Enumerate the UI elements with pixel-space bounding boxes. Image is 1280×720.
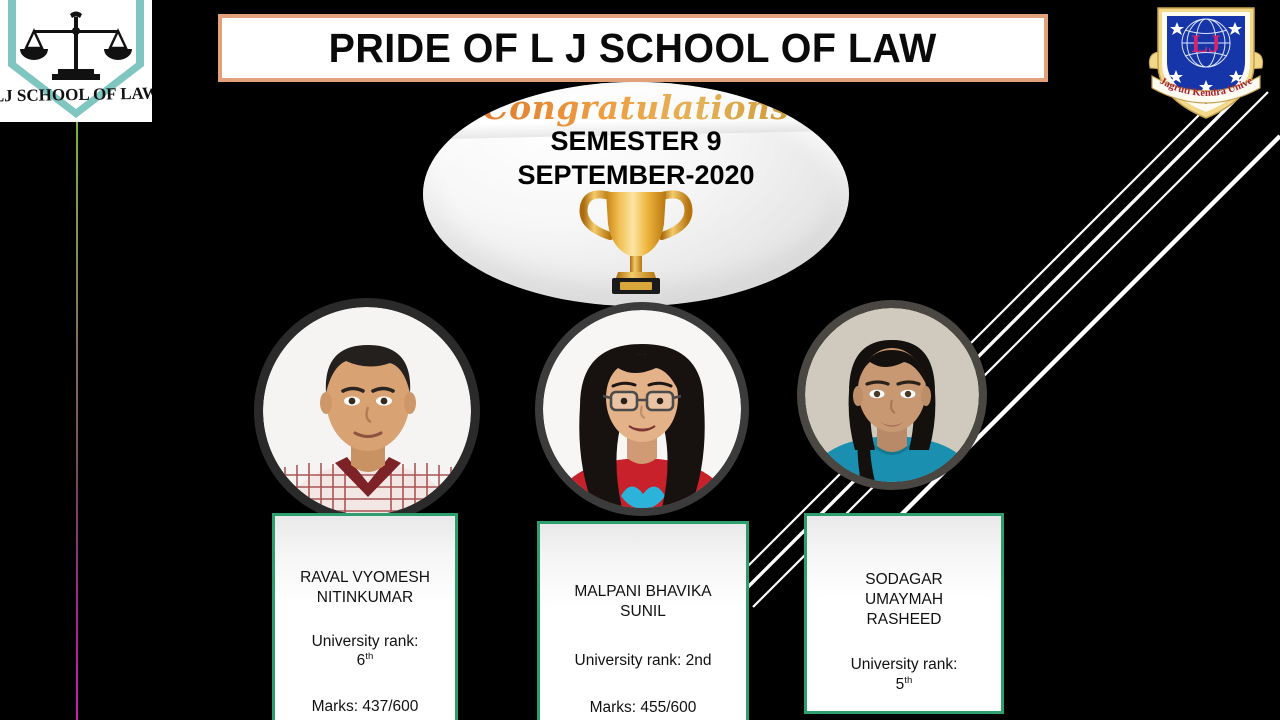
student-rank-1: University rank: 6th — [275, 632, 455, 672]
student-name-1-line1: RAVAL VYOMESH — [275, 568, 455, 588]
student-card-2: MALPANI BHAVIKA SUNIL University rank: 2… — [537, 521, 749, 720]
student-card-1: RAVAL VYOMESH NITINKUMAR University rank… — [272, 513, 458, 720]
page-title: PRIDE OF L J SCHOOL OF LAW — [329, 28, 937, 69]
lok-jagruti-kendra-university-crest: LJ Lok Jagruti Kendra University — [1146, 2, 1266, 124]
page-title-banner: PRIDE OF L J SCHOOL OF LAW — [218, 14, 1048, 82]
student-name-3-line1: SODAGAR — [807, 570, 1001, 590]
student-name-1-line2: NITINKUMAR — [275, 588, 455, 608]
student-name-2-line1: MALPANI BHAVIKA — [540, 582, 746, 602]
student-photo-2 — [535, 302, 749, 516]
student-rank-1-label: University rank: — [275, 632, 455, 652]
student-photo-1-image — [263, 307, 471, 515]
student-photo-1 — [254, 298, 480, 524]
congratulations-script-text: Congratulations — [423, 88, 849, 127]
student-marks-1: Marks: 437/600 — [275, 697, 455, 717]
semester-line-2: SEPTEMBER-2020 — [423, 158, 849, 192]
student-rank-3-suffix: th — [904, 675, 912, 686]
student-rank-3-value: 5th — [807, 675, 1001, 695]
student-rank-2: University rank: 2nd — [540, 651, 746, 671]
vertical-accent-rule — [76, 120, 78, 720]
lj-school-of-law-logo: LJ SCHOOL OF LAW — [0, 0, 152, 122]
student-photo-2-image — [543, 310, 741, 508]
student-name-1: RAVAL VYOMESH NITINKUMAR — [275, 568, 455, 608]
crest-monogram: LJ — [1191, 31, 1220, 58]
slide-root: LJ SCHOOL OF LAW LJ — [0, 0, 1280, 720]
student-photo-3 — [797, 300, 987, 490]
student-card-3: SODAGAR UMAYMAH RASHEED University rank:… — [804, 513, 1004, 714]
semester-heading: SEMESTER 9 SEPTEMBER-2020 — [423, 124, 849, 192]
student-rank-1-suffix: th — [365, 651, 373, 662]
student-rank-3: University rank: 5th — [807, 655, 1001, 695]
student-name-3-line2: UMAYMAH — [807, 590, 1001, 610]
student-name-2: MALPANI BHAVIKA SUNIL — [540, 582, 746, 622]
congratulations-banner: Congratulations SEMESTER 9 SEPTEMBER-202… — [423, 82, 849, 306]
gold-trophy-icon — [570, 182, 702, 303]
student-name-3-line3: RASHEED — [807, 610, 1001, 630]
student-name-3: SODAGAR UMAYMAH RASHEED — [807, 570, 1001, 629]
student-marks-2: Marks: 455/600 — [540, 698, 746, 718]
semester-line-1: SEMESTER 9 — [423, 124, 849, 158]
student-photo-3-image — [805, 308, 979, 482]
student-name-2-line2: SUNIL — [540, 602, 746, 622]
student-rank-3-label: University rank: — [807, 655, 1001, 675]
student-rank-1-value: 6th — [275, 651, 455, 671]
lj-school-of-law-logo-text: LJ SCHOOL OF LAW — [0, 84, 152, 106]
